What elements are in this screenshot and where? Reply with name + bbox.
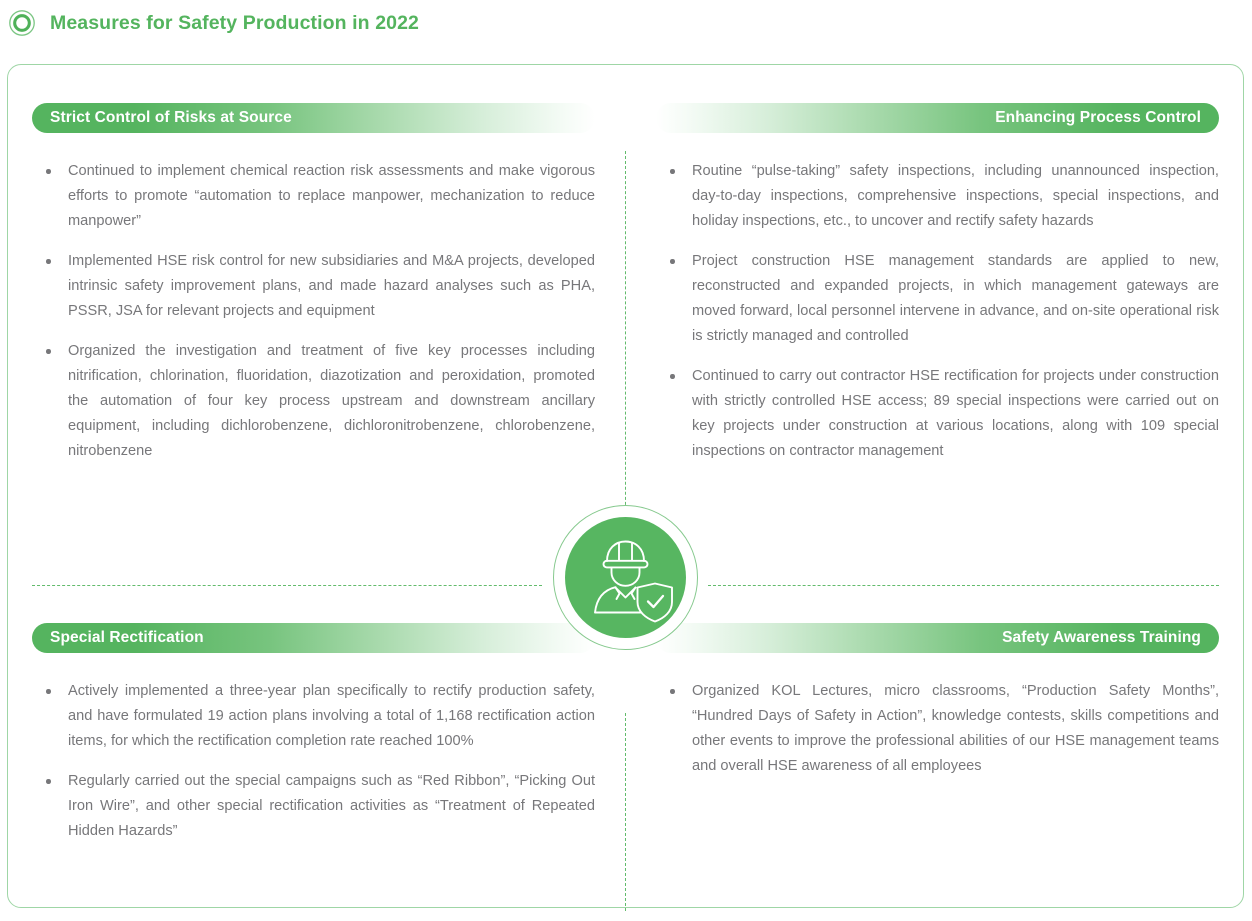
bullet-dot-icon (670, 169, 675, 174)
bullet-list: Actively implemented a three-year plan s… (32, 679, 595, 844)
bullet-dot-icon (46, 779, 51, 784)
badge-disc (565, 517, 686, 638)
target-circle-icon (8, 9, 36, 37)
panel-safety-awareness-training: Safety Awareness Training Organized KOL … (656, 623, 1219, 779)
horizontal-divider-right (708, 585, 1219, 586)
vertical-divider-lower (625, 713, 626, 911)
list-item-text: Implemented HSE risk control for new sub… (68, 253, 595, 319)
panel-title: Strict Control of Risks at Source (50, 109, 292, 127)
panel-special-rectification: Special Rectification Actively implement… (32, 623, 595, 844)
panel-enhancing-process-control: Enhancing Process Control Routine “pulse… (656, 103, 1219, 464)
list-item-text: Regularly carried out the special campai… (68, 773, 595, 839)
panel-strict-control-of-risks-at-source: Strict Control of Risks at Source Contin… (32, 103, 595, 464)
list-item: Actively implemented a three-year plan s… (32, 679, 595, 754)
list-item: Project construction HSE management stan… (656, 249, 1219, 349)
list-item: Continued to implement chemical reaction… (32, 159, 595, 234)
list-item-text: Actively implemented a three-year plan s… (68, 683, 595, 749)
bullet-dot-icon (46, 689, 51, 694)
center-badge (553, 505, 698, 650)
list-item: Routine “pulse-taking” safety inspection… (656, 159, 1219, 234)
list-item-text: Organized the investigation and treatmen… (68, 343, 595, 459)
list-item-text: Organized KOL Lectures, micro classrooms… (692, 683, 1219, 774)
bullet-dot-icon (46, 169, 51, 174)
bullet-list: Organized KOL Lectures, micro classrooms… (656, 679, 1219, 779)
bullet-list: Routine “pulse-taking” safety inspection… (656, 159, 1219, 464)
bullet-dot-icon (46, 349, 51, 354)
page-header: Measures for Safety Production in 2022 (0, 0, 1252, 46)
list-item-text: Project construction HSE management stan… (692, 253, 1219, 344)
bullet-dot-icon (46, 259, 51, 264)
horizontal-divider-left (32, 585, 542, 586)
list-item: Regularly carried out the special campai… (32, 769, 595, 844)
bullet-dot-icon (670, 259, 675, 264)
measures-card: Strict Control of Risks at Source Contin… (7, 64, 1244, 908)
panel-header-special-rectification: Special Rectification (32, 623, 595, 653)
safety-worker-shield-icon (565, 517, 686, 638)
list-item: Continued to carry out contractor HSE re… (656, 364, 1219, 464)
bullet-dot-icon (670, 689, 675, 694)
panel-header-safety-awareness-training: Safety Awareness Training (656, 623, 1219, 653)
list-item: Organized KOL Lectures, micro classrooms… (656, 679, 1219, 779)
bullet-list: Continued to implement chemical reaction… (32, 159, 595, 464)
page-title: Measures for Safety Production in 2022 (50, 12, 419, 35)
list-item-text: Routine “pulse-taking” safety inspection… (692, 163, 1219, 229)
list-item: Organized the investigation and treatmen… (32, 339, 595, 464)
panel-title: Special Rectification (50, 629, 204, 647)
list-item: Implemented HSE risk control for new sub… (32, 249, 595, 324)
panel-title: Safety Awareness Training (1002, 629, 1201, 647)
list-item-text: Continued to carry out contractor HSE re… (692, 368, 1219, 459)
panel-title: Enhancing Process Control (995, 109, 1201, 127)
panel-header-strict-control: Strict Control of Risks at Source (32, 103, 595, 133)
bullet-dot-icon (670, 374, 675, 379)
list-item-text: Continued to implement chemical reaction… (68, 163, 595, 229)
panel-header-enhancing-process-control: Enhancing Process Control (656, 103, 1219, 133)
